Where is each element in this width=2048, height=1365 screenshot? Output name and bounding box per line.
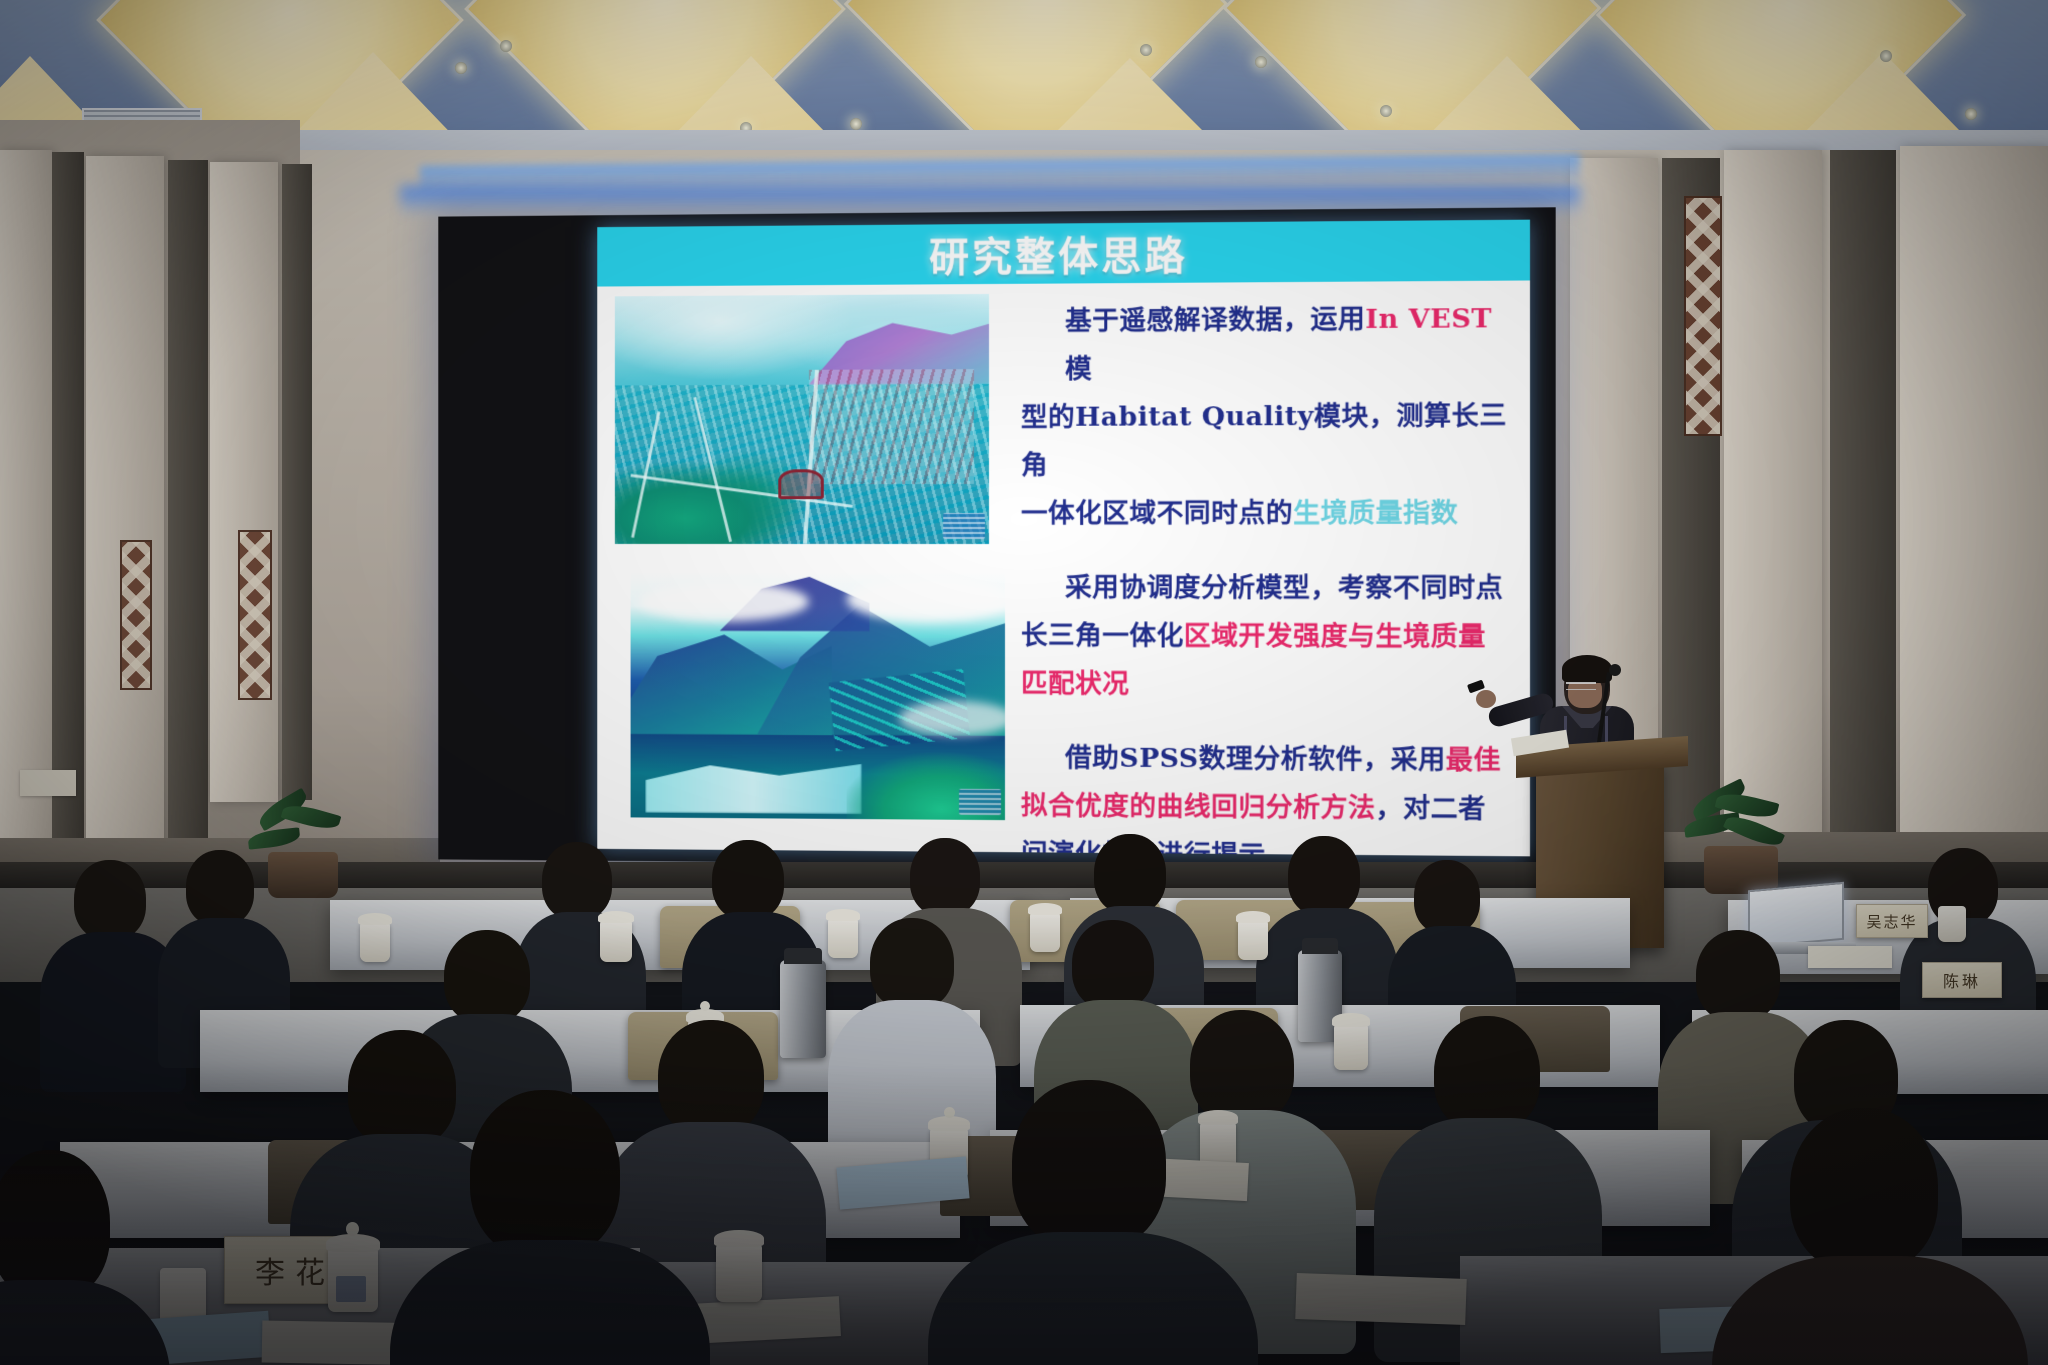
ceiling-spotlight <box>850 118 862 130</box>
person-head <box>1190 1010 1294 1124</box>
person-head <box>910 838 980 916</box>
ceiling-spotlight <box>1880 50 1892 62</box>
p1-l3-a: 一体化区域不同时点的 <box>1021 498 1293 529</box>
mountain-photo-cloud <box>847 577 1005 622</box>
p1-l1-highlight: In VEST <box>1365 303 1492 335</box>
ceiling-spotlight <box>500 40 512 52</box>
thermos-cap <box>784 948 822 964</box>
teacup <box>828 918 858 958</box>
wall-sign <box>20 770 76 796</box>
teacup <box>1030 912 1060 952</box>
plant-pot <box>1704 846 1778 894</box>
p1-l2-a: 型的 <box>1021 402 1075 433</box>
wall-recess <box>52 152 84 868</box>
wall-recess <box>168 160 208 840</box>
wall-column <box>1900 146 2048 886</box>
ceiling-spotlight <box>1140 44 1152 56</box>
person-head <box>870 918 954 1010</box>
plant-pot <box>268 852 338 898</box>
person-head <box>470 1090 620 1258</box>
wall-recess <box>1830 150 1896 870</box>
person-head <box>186 850 254 926</box>
person-head <box>1288 836 1360 916</box>
presentation-slide: 研究整体思路 <box>597 220 1530 857</box>
teacup-lid <box>1332 1013 1370 1027</box>
p3-l2-highlight: 拟合优度的曲线回归分析方法 <box>1021 790 1376 824</box>
decorative-lattice-panel <box>1684 196 1722 436</box>
ceiling-spotlight <box>455 62 467 74</box>
person-head <box>348 1030 456 1148</box>
wall-column <box>1724 150 1822 870</box>
person-head <box>542 842 612 920</box>
photo-watermark <box>959 789 1001 815</box>
person-head <box>1790 1108 1938 1272</box>
thermos <box>780 960 826 1058</box>
wall-recess <box>282 164 312 800</box>
person-head <box>444 930 530 1024</box>
teacup-knob <box>944 1107 955 1118</box>
town-photo-rooftops <box>809 369 974 484</box>
teacup <box>1938 906 1966 942</box>
p1-l2-term: Habitat Quality <box>1075 401 1314 433</box>
teacup <box>600 920 632 962</box>
teacup <box>716 1244 762 1302</box>
document-stack <box>1295 1273 1467 1325</box>
p2-l2-highlight: 区域开发强度与生境质量 <box>1184 620 1486 652</box>
person-head <box>658 1020 764 1136</box>
ceiling-spotlight <box>1255 56 1267 68</box>
p1-l1-a: 基于遥感解译数据，运用 <box>1065 304 1365 337</box>
aerial-town-photo <box>615 294 989 544</box>
p3-l1-c: 数理分析软件，采用 <box>1199 743 1446 776</box>
p3-l1-highlight: 最佳 <box>1446 744 1501 776</box>
slide-paragraph-3: 借助SPSS数理分析软件，采用最佳 拟合优度的曲线回归分析方法，对二者 间演化规… <box>1021 734 1514 856</box>
person-head <box>1072 920 1154 1010</box>
teacup <box>1238 920 1268 960</box>
teacup-lid <box>1236 911 1270 923</box>
town-photo-plaza <box>779 469 824 499</box>
speaker-glasses <box>1566 682 1596 690</box>
p2-l3-highlight: 匹配状况 <box>1021 668 1129 699</box>
photo-watermark <box>943 513 985 539</box>
placard[interactable]: 陈琳 <box>1922 962 2002 998</box>
speaker-hand <box>1476 690 1496 708</box>
teacup-knob <box>346 1222 359 1236</box>
notepad <box>1808 946 1892 968</box>
conference-photo-scene: 研究整体思路 <box>0 0 2048 1365</box>
teacup-lid <box>826 909 860 921</box>
p3-l1-term: SPSS <box>1119 743 1198 775</box>
person-head <box>1094 834 1166 914</box>
teacup-knob <box>700 1001 710 1011</box>
placard[interactable]: 吴志华 <box>1856 904 1928 938</box>
p3-l1-a: 借助 <box>1065 742 1119 773</box>
teacup-lid <box>1198 1110 1238 1125</box>
slide-title: 研究整体思路 <box>597 220 1530 287</box>
ceiling-spotlight <box>1380 105 1392 117</box>
teacup <box>360 922 390 962</box>
ceiling-spotlight <box>1965 108 1977 120</box>
slide-paragraph-2: 采用协调度分析模型，考察不同时点 长三角一体化区域开发强度与生境质量 匹配状况 <box>1021 564 1514 710</box>
led-display-screen: 研究整体思路 <box>438 207 1555 868</box>
wall-column <box>0 150 52 870</box>
decorative-lattice-panel <box>238 530 272 700</box>
teacup-lid <box>1028 903 1062 915</box>
person-head <box>1434 1016 1540 1132</box>
teacup-lid <box>714 1230 764 1247</box>
person-head <box>0 1150 110 1300</box>
decorative-lattice-panel <box>120 540 152 690</box>
teacup-lid <box>598 911 634 923</box>
wall-column <box>86 156 164 856</box>
p2-l2-a: 长三角一体化 <box>1021 620 1184 651</box>
speaker-hair <box>1562 655 1612 683</box>
p1-l3-highlight: 生境质量指数 <box>1293 498 1458 529</box>
person-head <box>1414 860 1480 934</box>
person-head <box>1012 1080 1166 1250</box>
teacup <box>1334 1024 1368 1070</box>
thermos-cap <box>1302 938 1338 954</box>
p2-l1: 采用协调度分析模型，考察不同时点 <box>1065 572 1503 604</box>
teacup-lid <box>928 1116 970 1131</box>
p3-l2-b: ，对二者 <box>1376 792 1486 824</box>
mountain-valley-photo <box>631 572 1005 820</box>
person-head <box>712 840 784 920</box>
microphone-icon <box>1609 664 1621 676</box>
document-stack <box>689 1296 841 1344</box>
person-head <box>74 860 146 940</box>
person-head <box>1696 930 1780 1022</box>
slide-paragraph-1: 基于遥感解译数据，运用In VEST模 型的Habitat Quality模块，… <box>1021 295 1514 538</box>
mountain-photo-cloud <box>638 582 809 622</box>
p1-l1-c: 模 <box>1065 354 1092 385</box>
wall-column <box>210 162 278 802</box>
teacup-pattern <box>336 1276 366 1302</box>
teacup-lid <box>358 913 392 925</box>
slide-body-text: 基于遥感解译数据，运用In VEST模 型的Habitat Quality模块，… <box>1021 295 1514 848</box>
teacup-lid <box>326 1234 380 1252</box>
ceiling <box>0 0 2048 172</box>
